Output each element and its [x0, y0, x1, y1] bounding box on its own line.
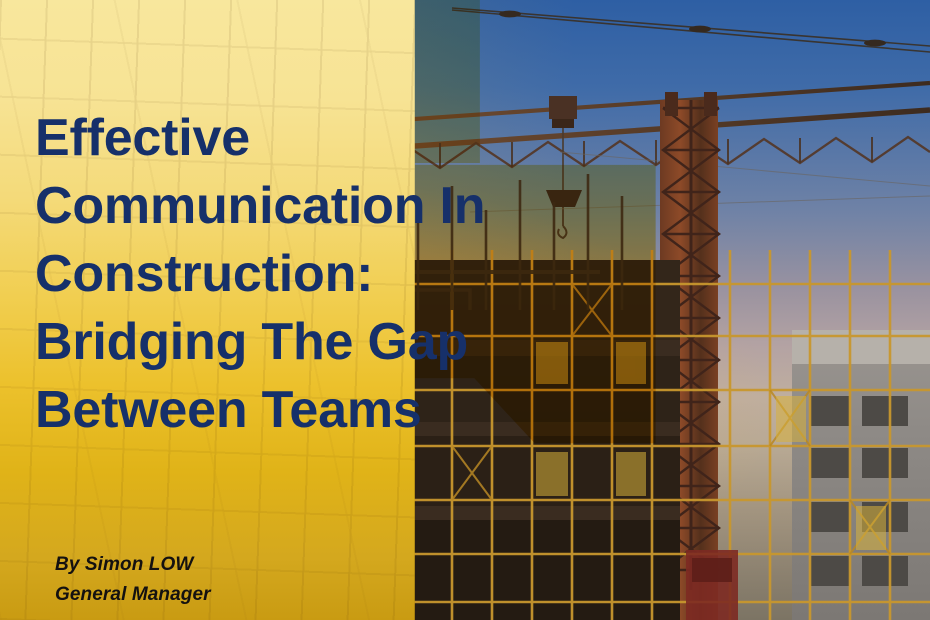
presentation-slide: Effective Communication In Construction:…: [0, 0, 930, 620]
slide-byline: By Simon LOW General Manager: [55, 550, 211, 610]
slide-title: Effective Communication In Construction:…: [35, 104, 555, 444]
